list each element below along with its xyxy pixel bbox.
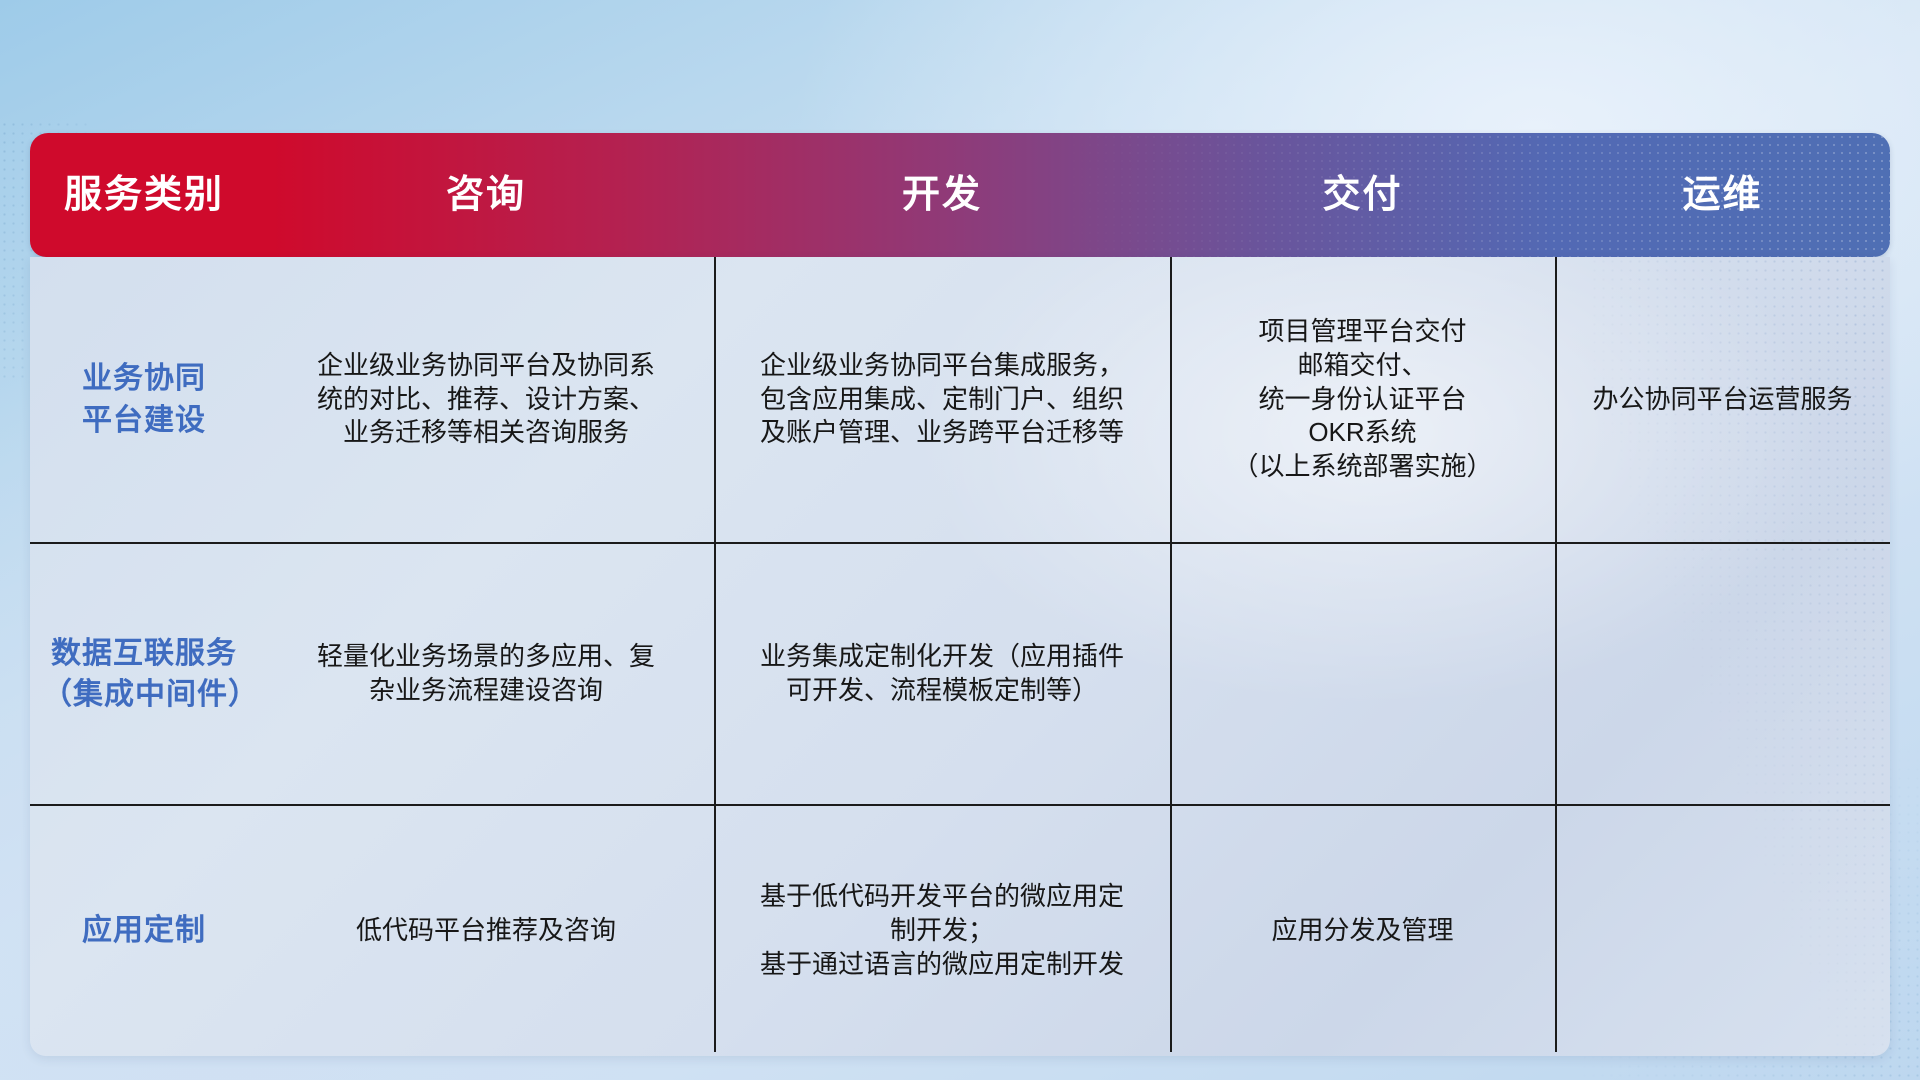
cell-delivery: 应用分发及管理 (1170, 806, 1555, 1056)
cell-consulting: 低代码平台推荐及咨询 (258, 806, 714, 1056)
cell-consulting: 轻量化业务场景的多应用、复 杂业务流程建设咨询 (258, 544, 714, 804)
cell-development: 业务集成定制化开发（应用插件 可开发、流程模板定制等） (714, 544, 1170, 804)
column-header-development: 开发 (714, 176, 1170, 214)
table-row: 业务协同 平台建设 企业级业务协同平台及协同系 统的对比、推荐、设计方案、 业务… (30, 257, 1890, 544)
cell-delivery: 项目管理平台交付 邮箱交付、 统一身份认证平台 OKR系统 （以上系统部署实施） (1170, 257, 1555, 542)
column-divider-3 (1555, 257, 1557, 1052)
row-category-label: 应用定制 (30, 806, 258, 1056)
cell-consulting: 企业级业务协同平台及协同系 统的对比、推荐、设计方案、 业务迁移等相关咨询服务 (258, 257, 714, 542)
table-row: 数据互联服务 （集成中间件） 轻量化业务场景的多应用、复 杂业务流程建设咨询 业… (30, 544, 1890, 806)
cell-operations: 办公协同平台运营服务 (1555, 257, 1890, 542)
cell-development: 企业级业务协同平台集成服务， 包含应用集成、定制门户、组织 及账户管理、业务跨平… (714, 257, 1170, 542)
cell-operations (1555, 544, 1890, 804)
table-header-row: 服务类别 咨询 开发 交付 运维 (30, 133, 1890, 257)
table-body: 业务协同 平台建设 企业级业务协同平台及协同系 统的对比、推荐、设计方案、 业务… (30, 257, 1890, 1056)
cell-operations (1555, 806, 1890, 1056)
table-row: 应用定制 低代码平台推荐及咨询 基于低代码开发平台的微应用定 制开发； 基于通过… (30, 806, 1890, 1056)
column-header-delivery: 交付 (1170, 176, 1555, 214)
row-category-label: 数据互联服务 （集成中间件） (30, 544, 258, 804)
column-header-consulting: 咨询 (258, 176, 714, 214)
service-matrix-table: 服务类别 咨询 开发 交付 运维 业务协同 平台建设 企业级业务协同平台及协同系… (30, 133, 1890, 1056)
column-divider-2 (1170, 257, 1172, 1052)
column-header-operations: 运维 (1555, 176, 1890, 214)
column-header-category: 服务类别 (30, 176, 258, 214)
cell-delivery (1170, 544, 1555, 804)
cell-development: 基于低代码开发平台的微应用定 制开发； 基于通过语言的微应用定制开发 (714, 806, 1170, 1056)
row-category-label: 业务协同 平台建设 (30, 257, 258, 542)
column-divider-1 (714, 257, 716, 1052)
